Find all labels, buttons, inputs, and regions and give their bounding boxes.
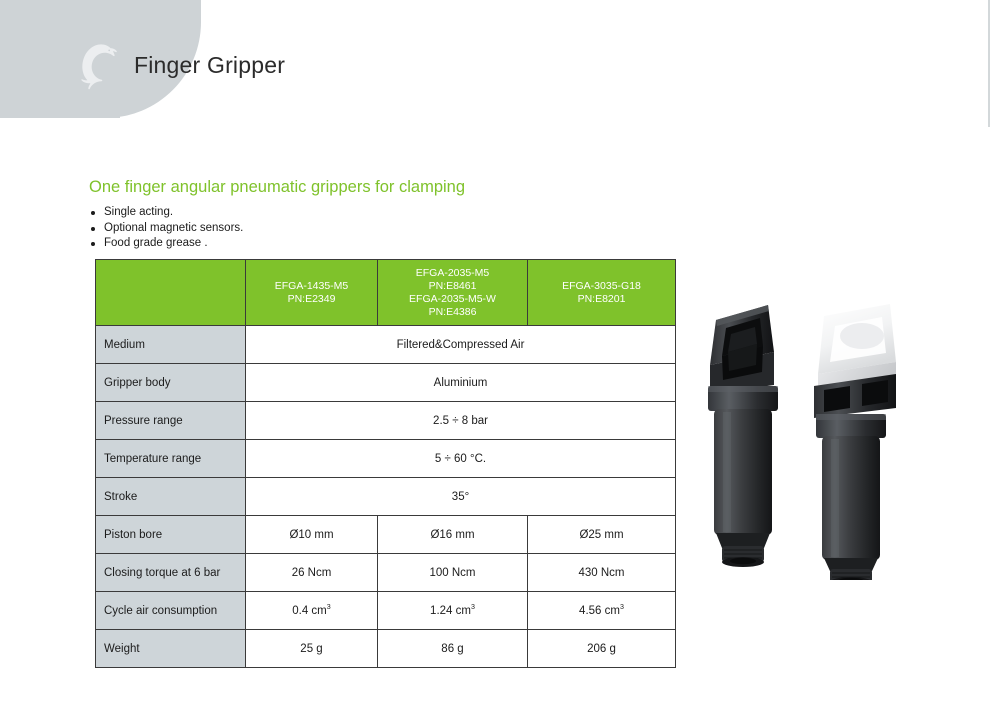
model-code-3: EFGA-3035-G18 PN:E8201 bbox=[536, 280, 667, 306]
row-value: 4.56 cm3 bbox=[528, 592, 676, 630]
table-row: Stroke 35° bbox=[96, 478, 676, 516]
page-title: Finger Gripper bbox=[134, 52, 285, 79]
row-label: Piston bore bbox=[96, 516, 246, 554]
row-label: Cycle air consumption bbox=[96, 592, 246, 630]
row-value: 100 Ncm bbox=[378, 554, 528, 592]
gripper-white-finger bbox=[814, 304, 896, 580]
list-item: Optional magnetic sensors. bbox=[89, 221, 243, 237]
table-row: Temperature range 5 ÷ 60 °C. bbox=[96, 440, 676, 478]
gripper-black-open-jaw bbox=[708, 305, 778, 567]
row-value: 25 g bbox=[246, 630, 378, 668]
table-row: Pressure range 2.5 ÷ 8 bar bbox=[96, 402, 676, 440]
table-row: Closing torque at 6 bar 26 Ncm 100 Ncm 4… bbox=[96, 554, 676, 592]
row-value: 206 g bbox=[528, 630, 676, 668]
row-value: Ø10 mm bbox=[246, 516, 378, 554]
main-content: One finger angular pneumatic grippers fo… bbox=[0, 0, 991, 706]
row-value: Ø16 mm bbox=[378, 516, 528, 554]
row-value: 0.4 cm3 bbox=[246, 592, 378, 630]
row-label: Closing torque at 6 bar bbox=[96, 554, 246, 592]
model-code-1: EFGA-1435-M5 PN:E2349 bbox=[254, 280, 369, 306]
header: Finger Gripper bbox=[70, 40, 285, 90]
row-value-merged: Aluminium bbox=[246, 364, 676, 402]
gripper-product-photo bbox=[690, 290, 925, 580]
table-header-cell-3: EFGA-3035-G18 PN:E8201 bbox=[528, 260, 676, 326]
row-value: 86 g bbox=[378, 630, 528, 668]
row-label: Pressure range bbox=[96, 402, 246, 440]
row-value-merged: 5 ÷ 60 °C. bbox=[246, 440, 676, 478]
row-value-merged: Filtered&Compressed Air bbox=[246, 326, 676, 364]
row-label: Gripper body bbox=[96, 364, 246, 402]
specification-table: EFGA-1435-M5 PN:E2349 EFGA-2035-M5 PN:E8… bbox=[95, 259, 676, 668]
row-label: Medium bbox=[96, 326, 246, 364]
dolphin-icon bbox=[70, 40, 118, 90]
table-header-row: EFGA-1435-M5 PN:E2349 EFGA-2035-M5 PN:E8… bbox=[96, 260, 676, 326]
table-row: Gripper body Aluminium bbox=[96, 364, 676, 402]
row-value-merged: 2.5 ÷ 8 bar bbox=[246, 402, 676, 440]
row-value: 430 Ncm bbox=[528, 554, 676, 592]
table-row: Cycle air consumption 0.4 cm3 1.24 cm3 4… bbox=[96, 592, 676, 630]
row-value: 26 Ncm bbox=[246, 554, 378, 592]
list-item: Food grade grease . bbox=[89, 236, 243, 252]
row-label: Stroke bbox=[96, 478, 246, 516]
list-item: Single acting. bbox=[89, 205, 243, 221]
table-header-cell-1: EFGA-1435-M5 PN:E2349 bbox=[246, 260, 378, 326]
table-header-blank bbox=[96, 260, 246, 326]
row-label: Temperature range bbox=[96, 440, 246, 478]
table-row: Piston bore Ø10 mm Ø16 mm Ø25 mm bbox=[96, 516, 676, 554]
table-header-cell-2: EFGA-2035-M5 PN:E8461 EFGA-2035-M5-W PN:… bbox=[378, 260, 528, 326]
table-row: Medium Filtered&Compressed Air bbox=[96, 326, 676, 364]
model-code-2: EFGA-2035-M5 PN:E8461 EFGA-2035-M5-W PN:… bbox=[386, 267, 519, 319]
row-value: 1.24 cm3 bbox=[378, 592, 528, 630]
row-value-merged: 35° bbox=[246, 478, 676, 516]
section-heading: One finger angular pneumatic grippers fo… bbox=[89, 178, 465, 197]
feature-bullet-list: Single acting. Optional magnetic sensors… bbox=[89, 205, 243, 252]
row-label: Weight bbox=[96, 630, 246, 668]
row-value: Ø25 mm bbox=[528, 516, 676, 554]
page-root: Finger Gripper One finger angular pneuma… bbox=[0, 0, 991, 706]
table-row: Weight 25 g 86 g 206 g bbox=[96, 630, 676, 668]
